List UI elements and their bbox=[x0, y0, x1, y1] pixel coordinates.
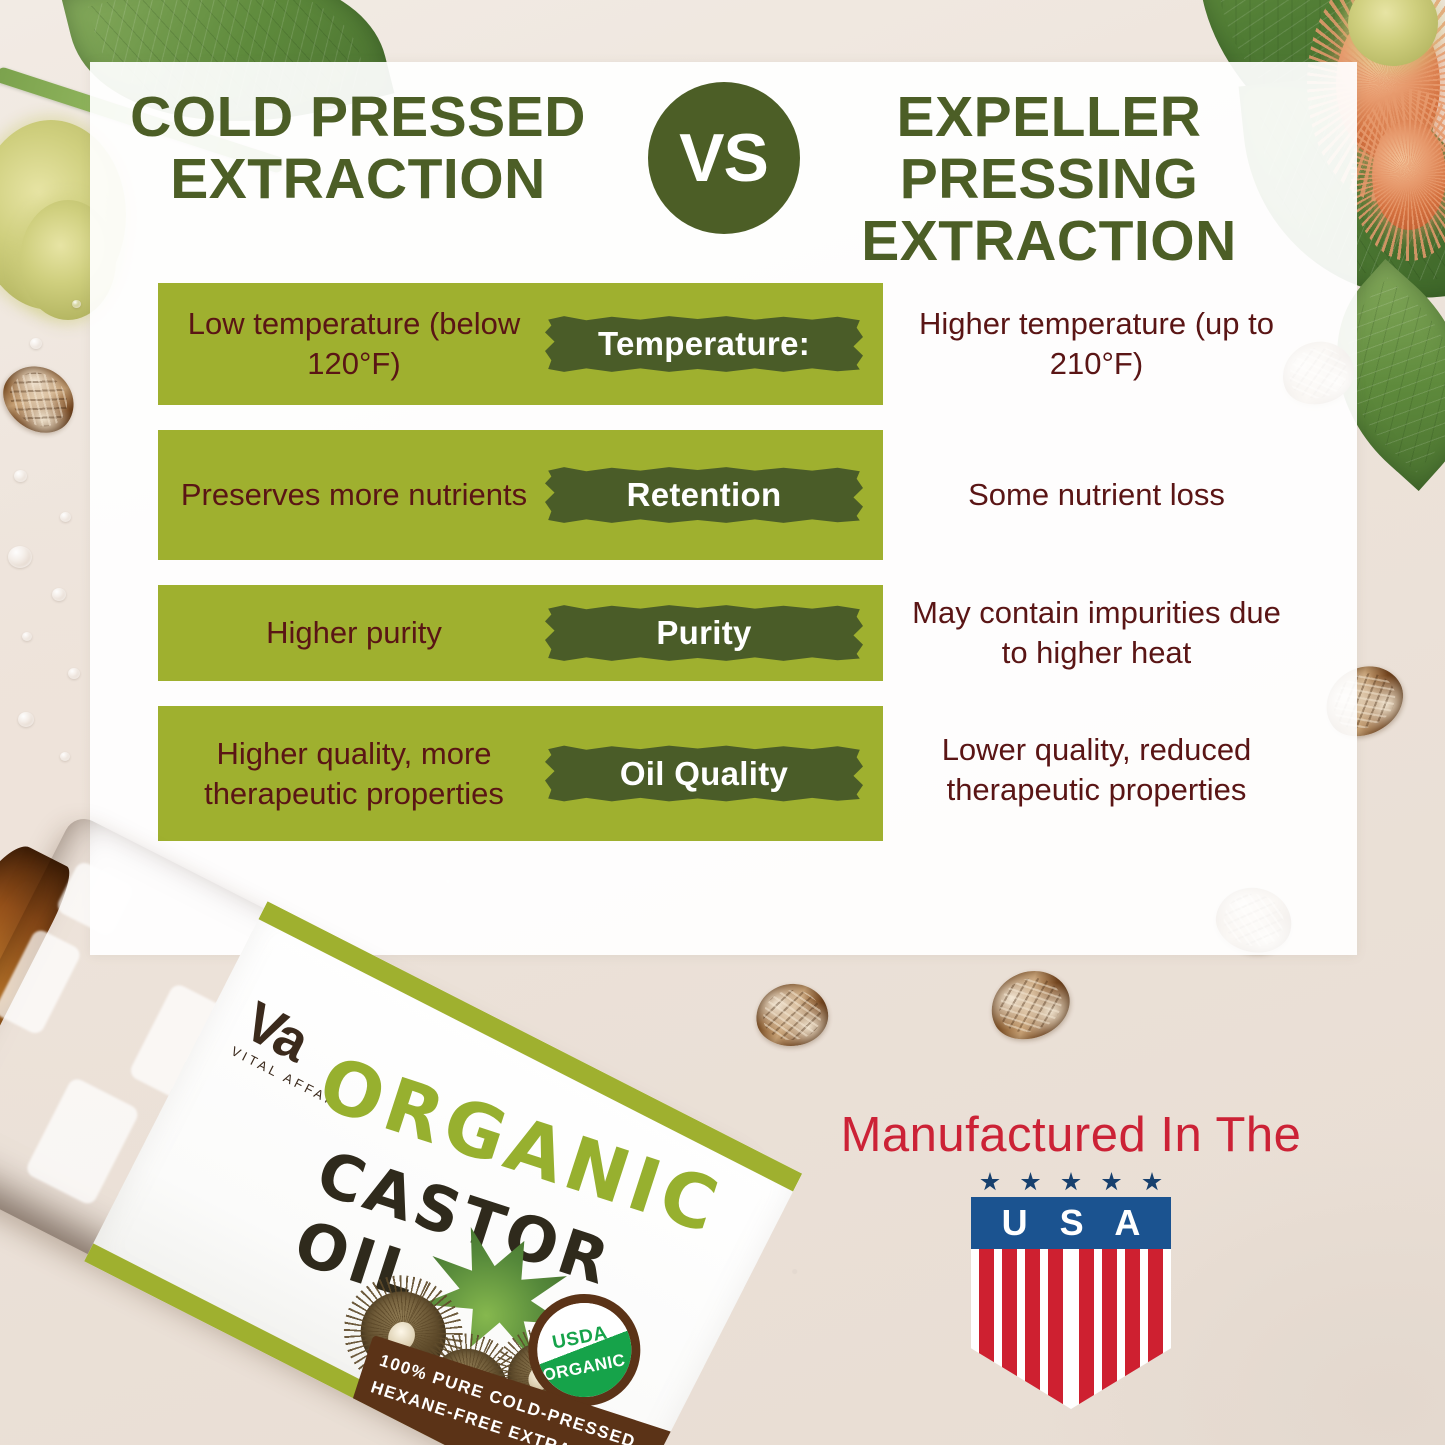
cold-pressed-value: Higher quality, more therapeutic propert… bbox=[174, 706, 534, 841]
glass-highlight bbox=[55, 860, 136, 938]
comparison-row-purity: Higher purity Purity May contain impurit… bbox=[158, 585, 1293, 681]
cold-pressed-title: COLD PRESSED EXTRACTION bbox=[108, 86, 608, 210]
comparison-header: COLD PRESSED EXTRACTION VS EXPELLER PRES… bbox=[90, 86, 1357, 268]
water-droplet bbox=[14, 470, 27, 482]
star-row bbox=[980, 1172, 1162, 1192]
comparison-row-retention: Preserves more nutrients Retention Some … bbox=[158, 430, 1293, 560]
cold-pressed-value: Low temperature (below 120°F) bbox=[174, 283, 534, 405]
water-droplet bbox=[30, 338, 42, 349]
star-icon bbox=[1142, 1172, 1162, 1192]
expeller-value: Higher temperature (up to 210°F) bbox=[900, 283, 1293, 405]
water-droplet bbox=[72, 300, 81, 308]
star-icon bbox=[1061, 1172, 1081, 1192]
cold-pressed-value: Preserves more nutrients bbox=[174, 430, 534, 560]
category-badge-oil-quality: Oil Quality bbox=[545, 745, 863, 803]
comparison-card: COLD PRESSED EXTRACTION VS EXPELLER PRES… bbox=[90, 62, 1357, 955]
flag-stripes bbox=[971, 1249, 1171, 1409]
category-badge-temperature: Temperature: bbox=[545, 315, 863, 373]
water-droplet bbox=[52, 588, 66, 601]
category-badge-retention: Retention bbox=[545, 466, 863, 524]
castor-flower-top-right-2 bbox=[1372, 120, 1445, 230]
comparison-row-oil-quality: Higher quality, more therapeutic propert… bbox=[158, 706, 1293, 841]
water-droplet bbox=[8, 546, 32, 568]
expeller-pressing-title: EXPELLER PRESSING EXTRACTION bbox=[759, 86, 1339, 272]
cold-pressed-value: Higher purity bbox=[174, 585, 534, 681]
expeller-value: Lower quality, reduced therapeutic prope… bbox=[900, 702, 1293, 837]
star-icon bbox=[1021, 1172, 1041, 1192]
manufactured-in-the-label: Manufactured In The bbox=[836, 1107, 1306, 1163]
expeller-value: Some nutrient loss bbox=[900, 430, 1293, 560]
water-droplet bbox=[60, 512, 71, 522]
usa-country-label: U S A bbox=[971, 1197, 1171, 1249]
expeller-value: May contain impurities due to higher hea… bbox=[900, 559, 1293, 707]
comparison-row-temperature: Low temperature (below 120°F) Temperatur… bbox=[158, 283, 1293, 405]
water-droplet bbox=[68, 668, 80, 679]
star-icon bbox=[1102, 1172, 1122, 1192]
comparison-rows: Low temperature (below 120°F) Temperatur… bbox=[158, 283, 1293, 841]
star-icon bbox=[980, 1172, 1000, 1192]
vs-label: VS bbox=[679, 119, 768, 197]
manufactured-in-usa-badge: Manufactured In The U S A bbox=[836, 1107, 1306, 1409]
water-droplet bbox=[18, 712, 34, 727]
glass-highlight bbox=[0, 927, 83, 1036]
water-droplet bbox=[22, 632, 32, 641]
category-badge-purity: Purity bbox=[545, 604, 863, 662]
usa-shield: U S A bbox=[971, 1172, 1171, 1409]
